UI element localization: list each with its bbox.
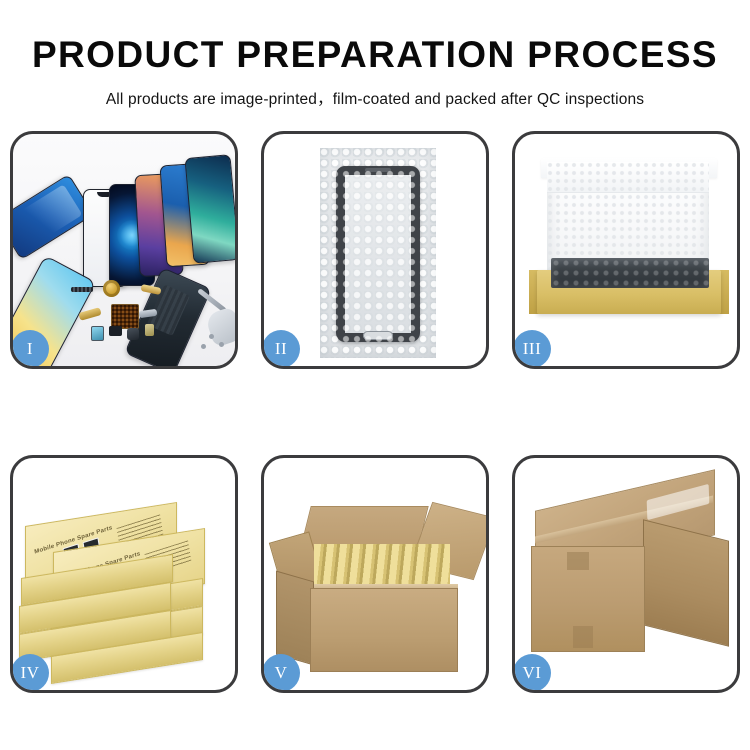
process-step-panel-6: VI bbox=[512, 455, 740, 693]
product-preparation-page: PRODUCT PREPARATION PROCESS All products… bbox=[0, 0, 750, 750]
screw-icon bbox=[209, 334, 214, 339]
small-component-icon bbox=[91, 326, 104, 341]
step-4-illustration: Mobile Phone Spare Parts Mobile Phone Sp… bbox=[13, 458, 235, 690]
step-badge-4: IV bbox=[11, 654, 49, 692]
process-step-panel-1: I bbox=[10, 131, 238, 369]
carton-right-panel-icon bbox=[643, 519, 729, 646]
step-badge-1: I bbox=[11, 330, 49, 368]
copper-coil-icon bbox=[103, 280, 120, 297]
screen-glass-icon bbox=[336, 166, 420, 342]
small-component-icon bbox=[109, 326, 122, 336]
connector-bar-icon bbox=[71, 287, 93, 292]
step-3-illustration bbox=[515, 134, 737, 366]
open-kraft-box-icon bbox=[529, 152, 729, 352]
step-badge-5: V bbox=[262, 654, 300, 692]
carton-side-panel-icon bbox=[276, 571, 314, 666]
screw-icon bbox=[219, 342, 224, 347]
page-header: PRODUCT PREPARATION PROCESS All products… bbox=[0, 0, 750, 109]
step-badge-3: III bbox=[513, 330, 551, 368]
packed-screen-icon bbox=[551, 258, 709, 288]
carton-front-panel-icon bbox=[310, 588, 458, 672]
page-title: PRODUCT PREPARATION PROCESS bbox=[0, 0, 750, 75]
carton-tab-icon bbox=[573, 626, 593, 648]
battery-connector-icon bbox=[145, 324, 154, 336]
process-step-panel-3: III bbox=[512, 131, 740, 369]
page-subtitle: All products are image-printed，film-coat… bbox=[0, 75, 750, 109]
step-6-illustration bbox=[515, 458, 737, 690]
step-badge-6: VI bbox=[513, 654, 551, 692]
box-stack-icon: Mobile Phone Spare Parts Mobile Phone Sp… bbox=[17, 478, 235, 678]
phone-screen-blue-icon bbox=[13, 174, 94, 260]
open-carton-icon bbox=[274, 484, 482, 674]
screw-icon bbox=[201, 344, 206, 349]
process-step-panel-4: Mobile Phone Spare Parts Mobile Phone Sp… bbox=[10, 455, 238, 693]
phone-screen-group-icon bbox=[13, 134, 235, 366]
process-step-panel-5: V bbox=[261, 455, 489, 693]
process-step-panel-2: II bbox=[261, 131, 489, 369]
carton-tab-icon bbox=[567, 552, 589, 570]
step-badge-2: II bbox=[262, 330, 300, 368]
speaker-module-icon bbox=[127, 328, 139, 340]
phone-screen-teal-icon bbox=[184, 154, 235, 264]
step-5-illustration bbox=[264, 458, 486, 690]
process-step-grid: I II bbox=[10, 131, 741, 693]
box-body-icon bbox=[537, 270, 721, 314]
bubble-wrap-icon bbox=[320, 148, 436, 358]
step-2-illustration bbox=[264, 134, 486, 366]
sealed-carton-icon bbox=[527, 486, 731, 672]
step-1-illustration bbox=[13, 134, 235, 366]
